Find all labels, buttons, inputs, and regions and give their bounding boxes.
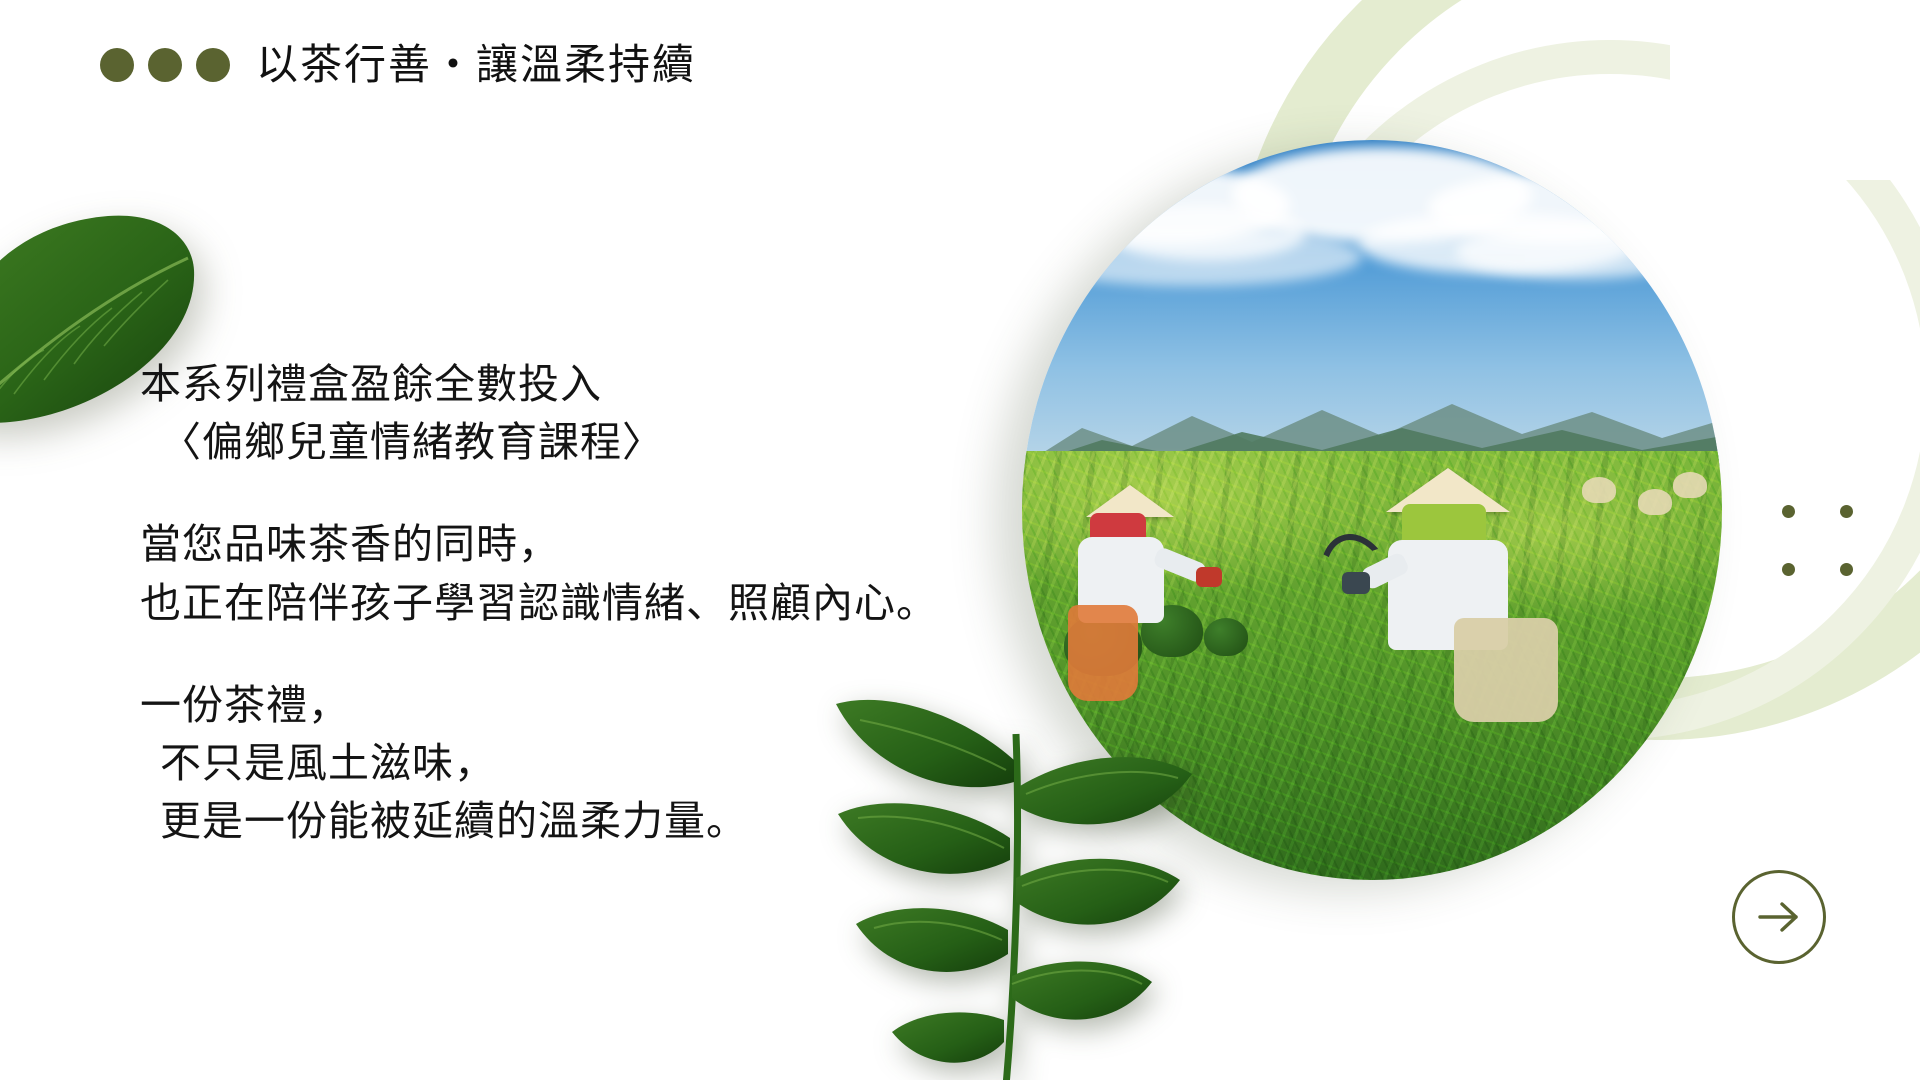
header-dot-icon [100,48,134,82]
copy-line: 不只是風土滋味， [140,734,938,792]
photo-worker-distant [1582,477,1616,503]
header-dot-icon [148,48,182,82]
next-slide-button[interactable] [1732,870,1826,964]
copy-line: 當您品味茶香的同時， [140,515,938,573]
header-dot-icon [196,48,230,82]
photo-worker-right [1358,468,1618,738]
photo-worker-distant [1673,472,1707,498]
paragraph: 一份茶禮， 不只是風土滋味， 更是一份能被延續的溫柔力量。 [140,676,938,851]
arrow-right-icon [1756,901,1802,933]
page-title: 以茶行善・讓溫柔持續 [256,44,696,86]
decor-dot [1782,505,1795,518]
decor-dot [1782,563,1795,576]
copy-line: 一份茶禮， [140,676,938,734]
copy-line: 〈偏鄉兒童情緒教育課程〉 [140,413,938,471]
copy-line: 更是一份能被延續的溫柔力量。 [140,792,938,850]
slide-canvas: 以茶行善・讓溫柔持續 本系列禮盒盈餘全數投入 〈偏鄉兒童情緒教育課程〉 當您品味… [0,0,1920,1080]
copy-line: 本系列禮盒盈餘全數投入 [140,355,938,413]
paragraph: 本系列禮盒盈餘全數投入 〈偏鄉兒童情緒教育課程〉 [140,355,938,471]
slide-header: 以茶行善・讓溫柔持續 [100,44,696,86]
copy-line: 也正在陪伴孩子學習認識情緒、照顧內心。 [140,574,938,632]
decor-dots-right [1782,505,1872,595]
photo-worker-left [1064,485,1264,715]
decor-dot [1840,563,1853,576]
paragraph: 當您品味茶香的同時， 也正在陪伴孩子學習認識情緒、照顧內心。 [140,515,938,631]
decor-dot [1840,505,1853,518]
photo-worker-distant [1638,489,1672,515]
header-dots-icon [100,48,230,82]
body-copy: 本系列禮盒盈餘全數投入 〈偏鄉兒童情緒教育課程〉 當您品味茶香的同時， 也正在陪… [140,355,938,851]
